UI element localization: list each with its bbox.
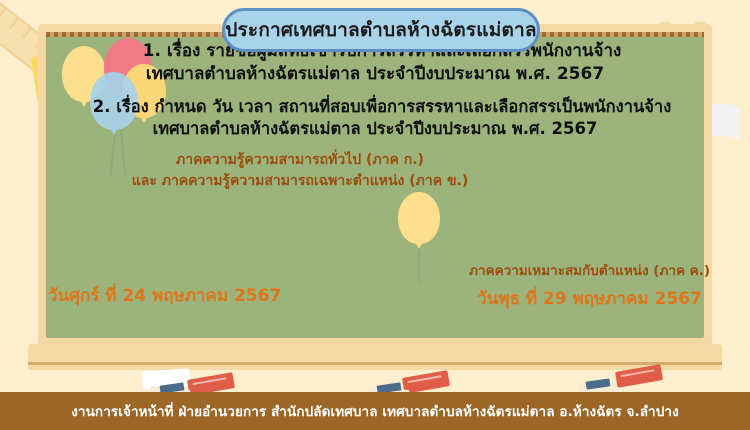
announcement-2-line2: เทศบาลตำบลห้างฉัตรแม่ตาล ประจำปีงบประมาณ…	[0, 118, 750, 140]
page-title: ประกาศเทศบาลตำบลห้างฉัตรแม่ตาล	[225, 21, 536, 40]
footer-bar: งานการเจ้าหน้าที่ ฝ่ายอำนวยการ สำนักปลัด…	[0, 392, 750, 430]
announcement-1-line2: เทศบาลตำบลห้างฉัตรแม่ตาล ประจำปีงบประมาณ…	[0, 63, 750, 86]
announcement-2-number: 2.	[93, 97, 111, 116]
exam-part-line-2: และ ภาคความรู้ความสามารถเฉพาะตำแหน่ง (ภา…	[0, 171, 750, 191]
exam-parts-block: ภาคความรู้ความสามารถทั่วไป (ภาค ก.) และ …	[0, 150, 750, 191]
announcement-2-line1: เรื่อง กำหนด วัน เวลา สถานที่สอบเพื่อการ…	[116, 97, 671, 116]
footer-text: งานการเจ้าหน้าที่ ฝ่ายอำนวยการ สำนักปลัด…	[71, 400, 679, 422]
ledge-line	[28, 362, 722, 365]
exam-date-left: วันศุกร์ ที่ 24 พฤษภาคม 2567	[48, 278, 281, 312]
announcement-item-2: 2. เรื่อง กำหนด วัน เวลา สถานที่สอบเพื่อ…	[0, 96, 750, 141]
exam-date-right-subtitle: ภาคความเหมาะสมกับตำแหน่ง (ภาค ค.)	[469, 262, 710, 281]
announcement-poster: ประกาศเทศบาลตำบลห้างฉัตรแม่ตาล 1. เรื่อง…	[0, 0, 750, 430]
board-content: 1. เรื่อง รายชื่อผู้มีสิทธิ์เข้ารับการสร…	[0, 40, 750, 191]
exam-part-line-1: ภาคความรู้ความสามารถทั่วไป (ภาค ก.)	[0, 150, 750, 170]
chalkboard-ledge	[28, 344, 722, 370]
balloon-yellow-icon	[398, 192, 440, 244]
exam-dates: วันศุกร์ ที่ 24 พฤษภาคม 2567 ภาคความเหมา…	[0, 262, 750, 312]
exam-date-left-value: วันศุกร์ ที่ 24 พฤษภาคม 2567	[48, 282, 281, 309]
announcement-1-number: 1.	[143, 41, 161, 61]
exam-date-right: ภาคความเหมาะสมกับตำแหน่ง (ภาค ค.) วันพุธ…	[469, 262, 710, 312]
title-banner: ประกาศเทศบาลตำบลห้างฉัตรแม่ตาล	[222, 8, 540, 52]
exam-date-right-value: วันพุธ ที่ 29 พฤษภาคม 2567	[469, 285, 710, 312]
